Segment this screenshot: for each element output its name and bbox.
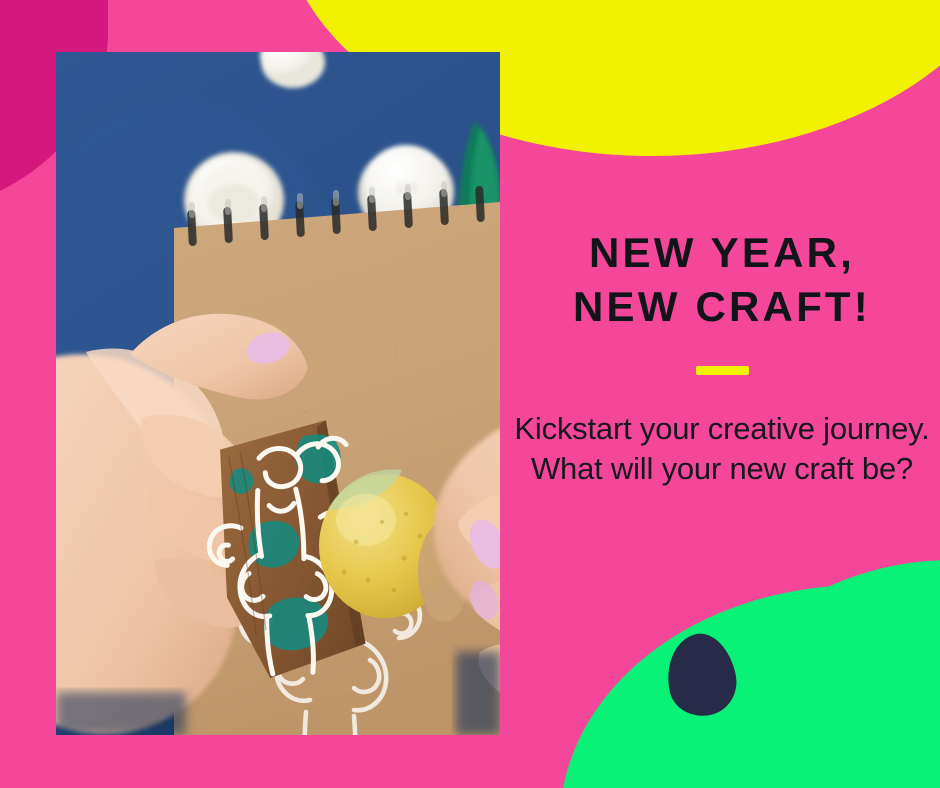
text-content: New Year, New Craft! Kickstart your crea… bbox=[512, 226, 932, 489]
green-wave-blob-secondary bbox=[700, 560, 940, 788]
craft-photo: 123 bbox=[56, 52, 500, 735]
craft-photo-illustration: 123 bbox=[56, 52, 500, 735]
page-title: New Year, New Craft! bbox=[512, 226, 932, 334]
yellow-rule bbox=[696, 366, 749, 375]
green-wave-blob bbox=[560, 585, 940, 788]
social-post-canvas: 123 bbox=[0, 0, 940, 788]
navy-pebble-blob bbox=[659, 628, 743, 722]
divider bbox=[512, 334, 932, 380]
subheadline: Kickstart your creative journey. What wi… bbox=[512, 409, 932, 490]
